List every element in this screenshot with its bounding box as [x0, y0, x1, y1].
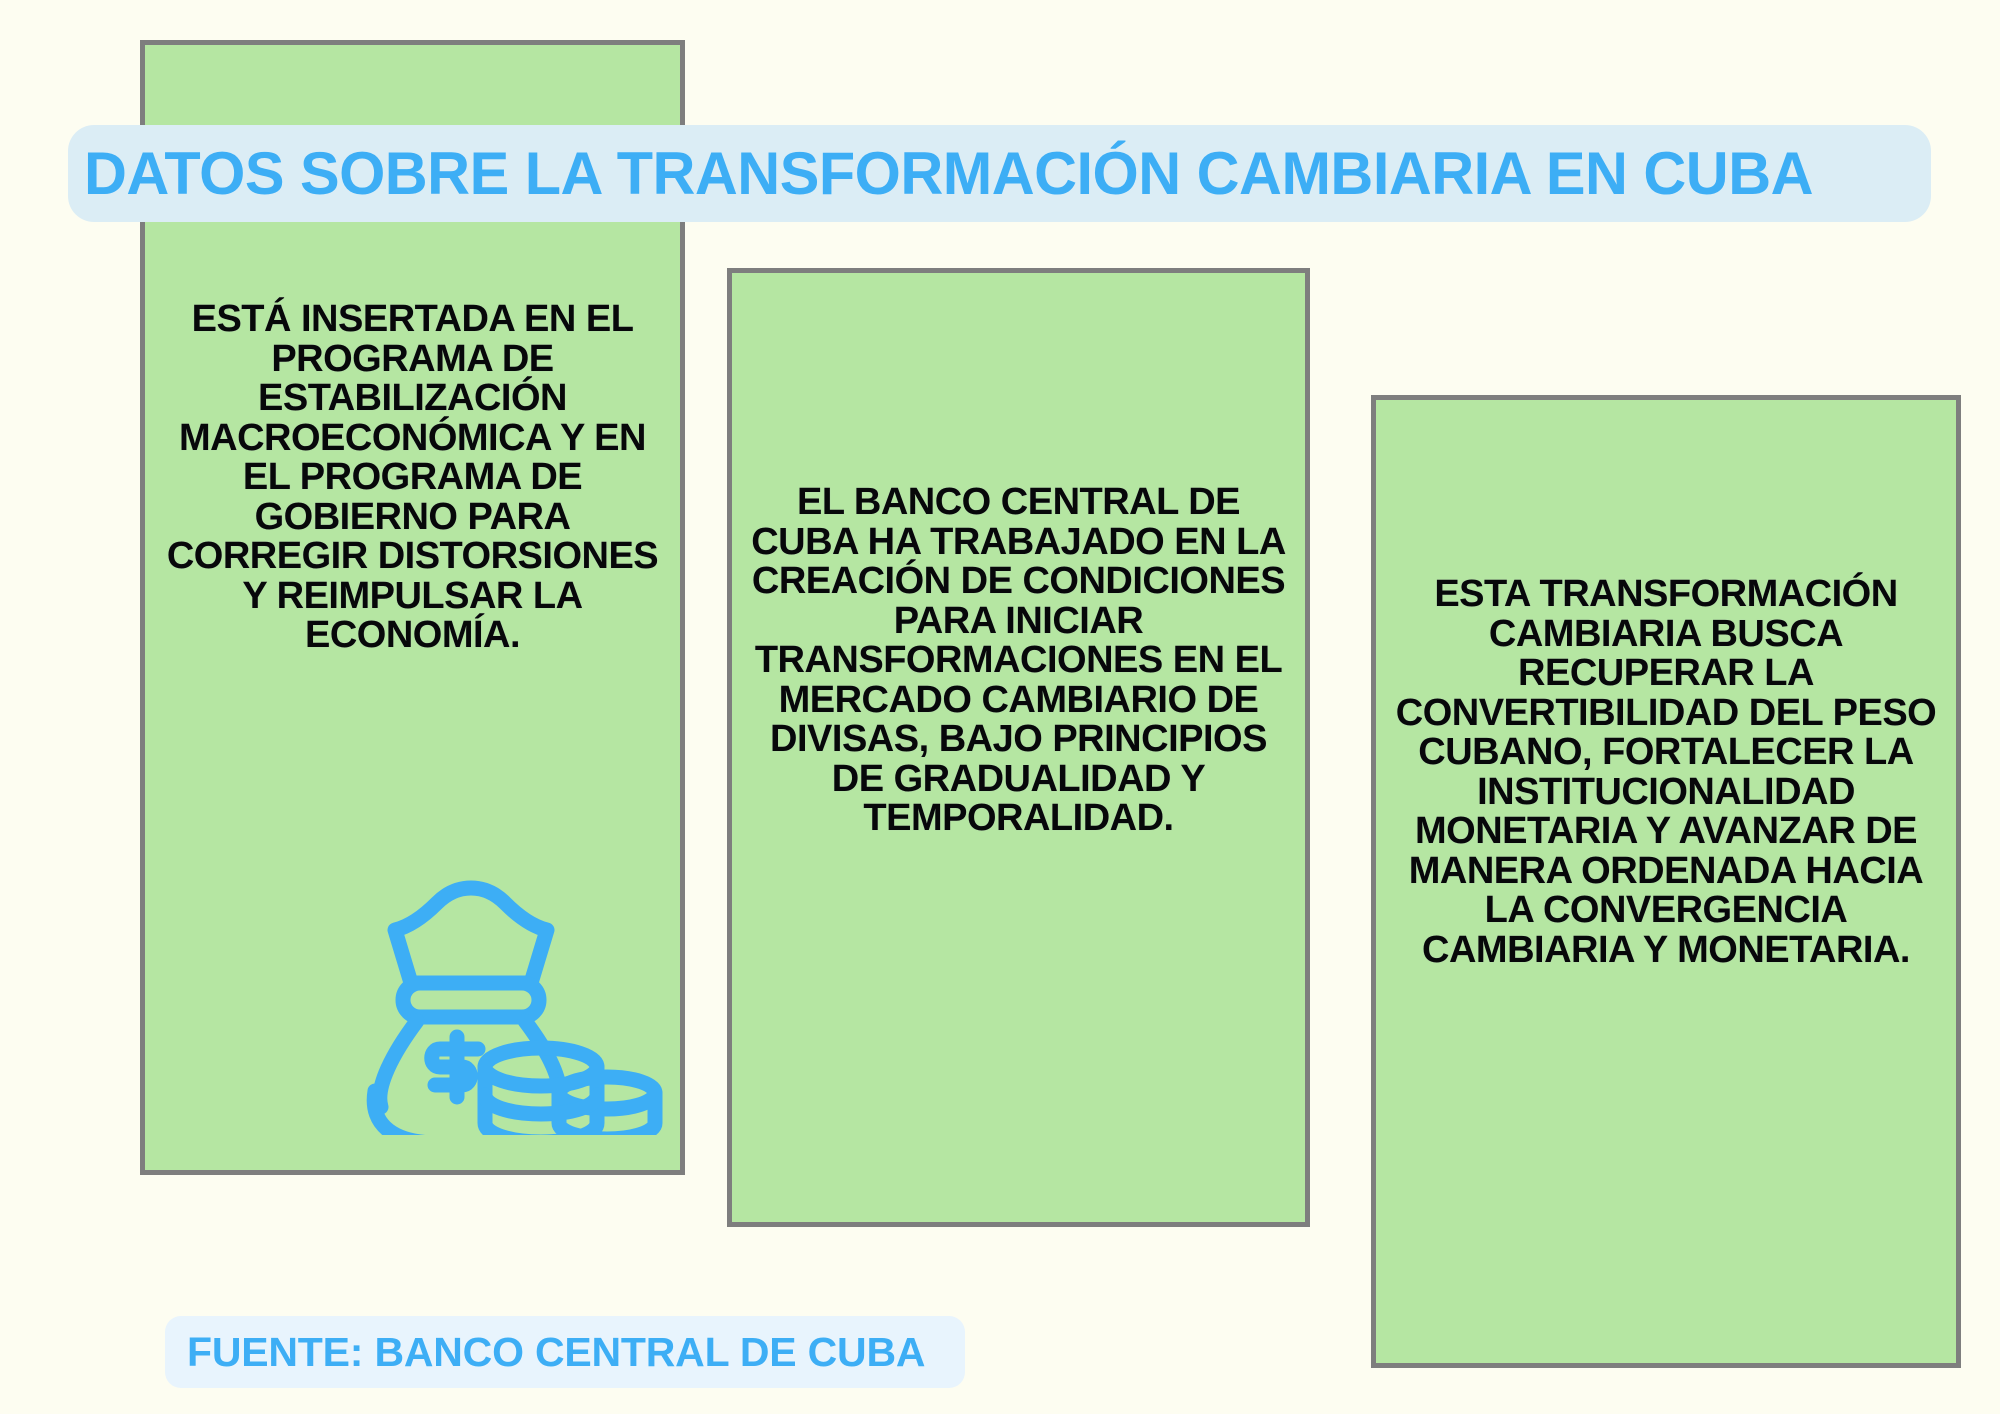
- infographic-canvas: ESTÁ INSERTADA EN EL PROGRAMA DE ESTABIL…: [0, 0, 2000, 1414]
- info-card-2-text: EL BANCO CENTRAL DE CUBA HA TRABAJADO EN…: [749, 483, 1289, 839]
- source-label: FUENTE: BANCO CENTRAL DE CUBA: [187, 1329, 925, 1376]
- info-card-3: ESTA TRANSFORMACIÓN CAMBIARIA BUSCA RECU…: [1371, 395, 1961, 1368]
- info-card-3-text: ESTA TRANSFORMACIÓN CAMBIARIA BUSCA RECU…: [1394, 575, 1939, 970]
- source-badge: FUENTE: BANCO CENTRAL DE CUBA: [165, 1316, 965, 1388]
- page-title: DATOS SOBRE LA TRANSFORMACIÓN CAMBIARIA …: [84, 139, 1813, 208]
- money-bag-with-coins-icon: [345, 855, 665, 1135]
- info-card-2: EL BANCO CENTRAL DE CUBA HA TRABAJADO EN…: [727, 268, 1310, 1227]
- title-banner: DATOS SOBRE LA TRANSFORMACIÓN CAMBIARIA …: [68, 125, 1931, 222]
- info-card-1-text: ESTÁ INSERTADA EN EL PROGRAMA DE ESTABIL…: [163, 300, 663, 656]
